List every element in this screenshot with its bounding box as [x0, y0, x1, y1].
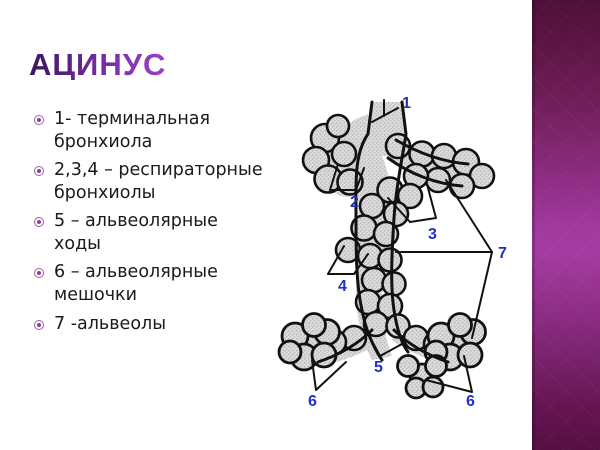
page-title: АЦИНУС — [29, 49, 166, 80]
band-damask-texture — [532, 0, 600, 450]
acinus-diagram-svg: 1 2 3 4 5 6 6 7 — [276, 94, 532, 416]
list-item-label: 5 – альвеолярные ходы — [54, 211, 218, 254]
bullet-circle-icon — [34, 166, 44, 176]
slide-canvas: АЦИНУС 1- терминальная бронхиола 2,3,4 –… — [0, 0, 600, 450]
diagram-label-3: 3 — [428, 226, 437, 243]
decorative-purple-gradient-band — [532, 0, 600, 450]
diagram-label-6-right: 6 — [466, 393, 475, 410]
bullet-circle-icon — [34, 268, 44, 278]
diagram-label-2: 2 — [350, 194, 359, 211]
list-item: 5 – альвеолярные ходы — [33, 210, 265, 255]
list-item-label: 7 -альвеолы — [54, 314, 166, 334]
acinus-diagram: 1 2 3 4 5 6 6 7 — [276, 94, 532, 416]
list-item-label: 1- терминальная бронхиола — [54, 109, 210, 152]
bullet-list: 1- терминальная бронхиола 2,3,4 – респир… — [33, 108, 265, 341]
bullet-circle-icon — [34, 217, 44, 227]
list-item: 1- терминальная бронхиола — [33, 108, 265, 153]
list-item: 6 – альвеолярные мешочки — [33, 261, 265, 306]
diagram-label-7: 7 — [498, 245, 507, 262]
list-item: 7 -альвеолы — [33, 313, 265, 336]
bullet-circle-icon — [34, 320, 44, 330]
diagram-label-6-left: 6 — [308, 393, 317, 410]
list-item-label: 2,3,4 – респираторные бронхиолы — [54, 160, 263, 203]
diagram-label-4: 4 — [338, 278, 347, 295]
list-item-label: 6 – альвеолярные мешочки — [54, 262, 218, 305]
list-item: 2,3,4 – респираторные бронхиолы — [33, 159, 265, 204]
diagram-label-5: 5 — [374, 359, 383, 376]
bullet-circle-icon — [34, 115, 44, 125]
diagram-label-1: 1 — [402, 95, 411, 112]
